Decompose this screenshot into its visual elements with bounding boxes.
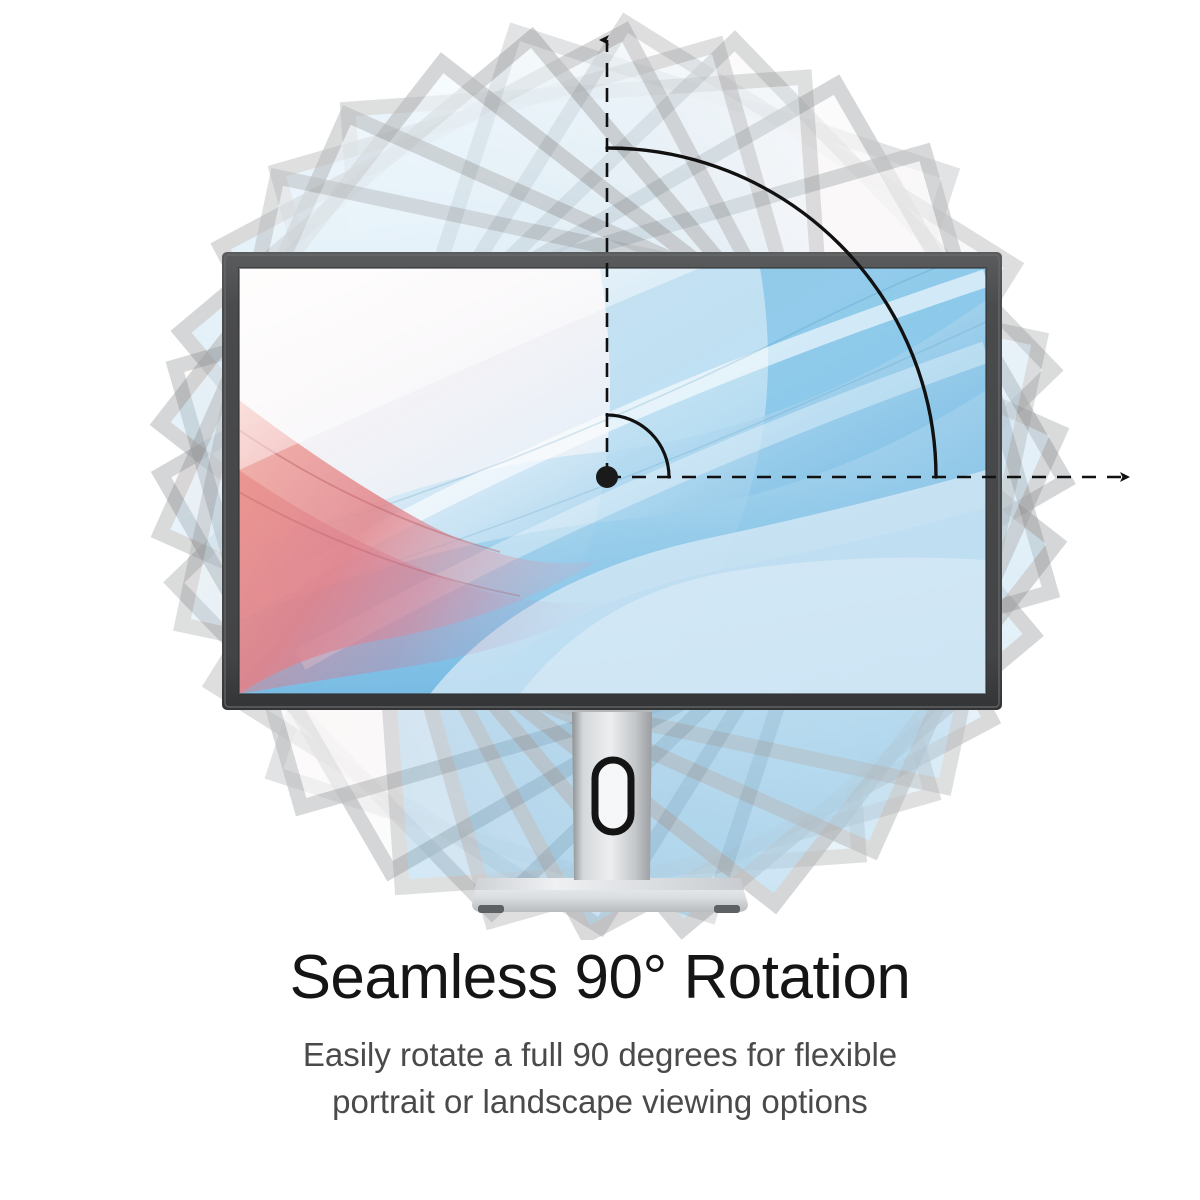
page-title: Seamless 90° Rotation — [0, 945, 1200, 1010]
stand-foot-left — [478, 905, 504, 913]
stand-foot-right — [714, 905, 740, 913]
monitor-rotation-illustration — [0, 0, 1200, 940]
cable-management-hole — [595, 760, 631, 832]
subtitle-line-1: Easily rotate a full 90 degrees for flex… — [0, 1032, 1200, 1079]
rotation-feature-graphic: Seamless 90° Rotation Easily rotate a fu… — [0, 0, 1200, 1200]
pivot-point — [596, 466, 618, 488]
caption-block: Seamless 90° Rotation Easily rotate a fu… — [0, 945, 1200, 1126]
subtitle-line-2: portrait or landscape viewing options — [0, 1079, 1200, 1126]
subtitle-block: Easily rotate a full 90 degrees for flex… — [0, 1032, 1200, 1126]
